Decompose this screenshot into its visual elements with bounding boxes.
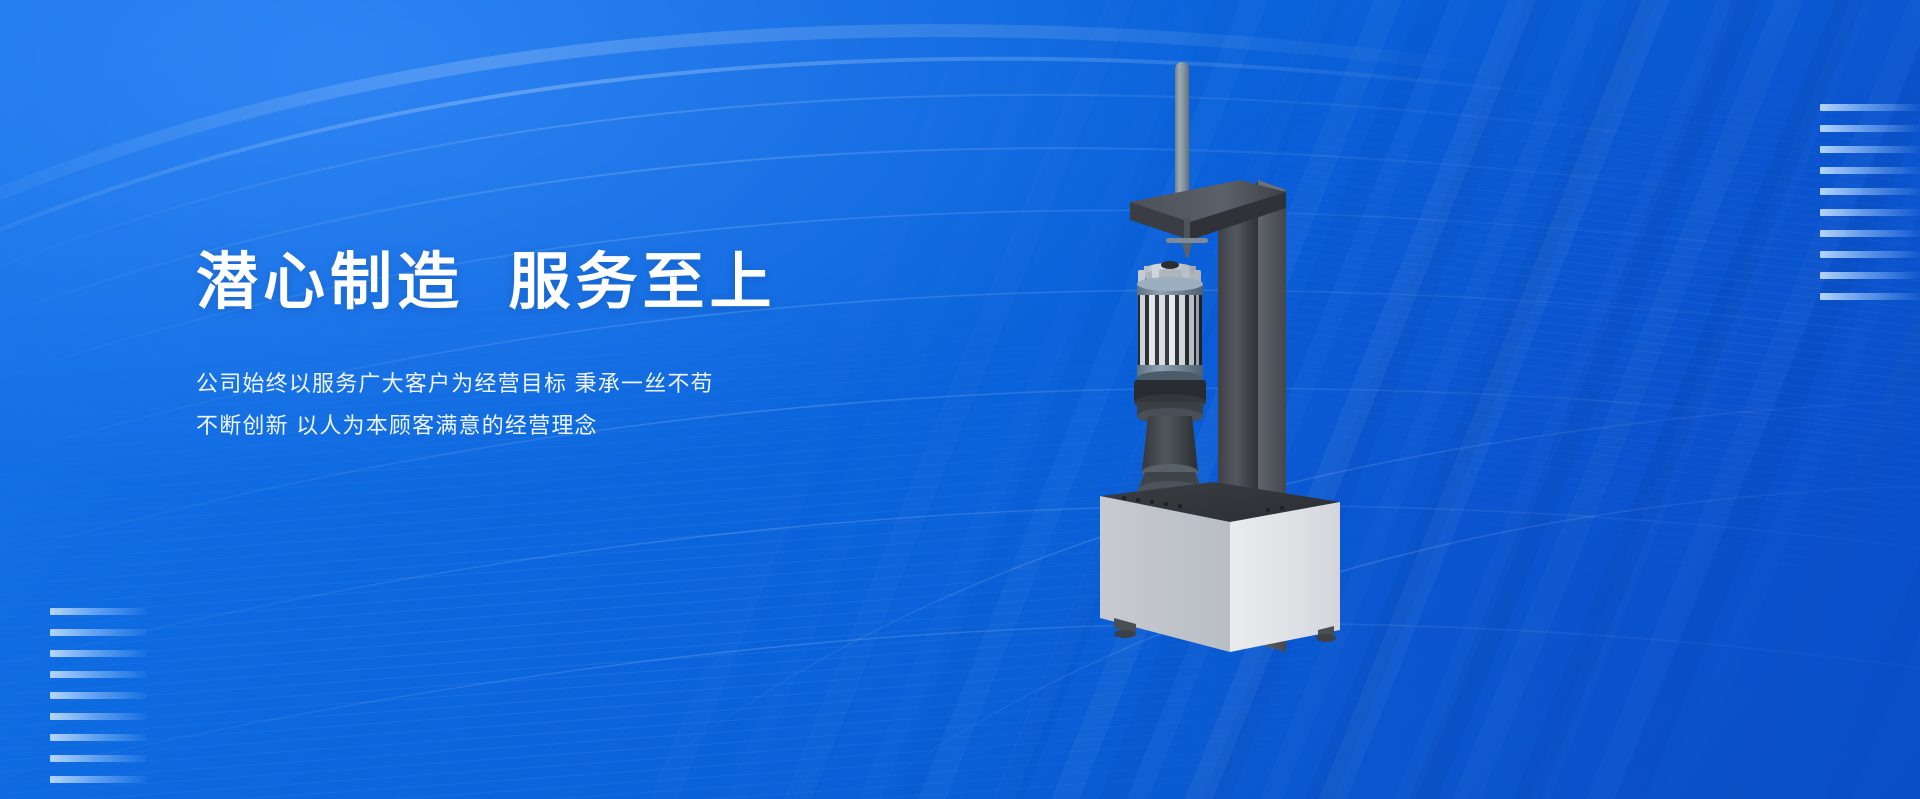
decorative-bar (50, 692, 147, 699)
decorative-bar (1820, 251, 1920, 258)
decorative-bar (50, 734, 147, 741)
decorative-bar (50, 608, 147, 615)
hero-banner: 潜心制造 服务至上 公司始终以服务广大客户为经营目标 秉承一丝不苟 不断创新 以… (0, 0, 1920, 799)
decorative-bar (1820, 125, 1920, 132)
decorative-bar (1820, 209, 1920, 216)
decorative-bar (50, 776, 147, 783)
decorative-bars-left (50, 608, 160, 783)
decorative-bar (1820, 293, 1920, 300)
hero-subtitle: 公司始终以服务广大客户为经营目标 秉承一丝不苟 不断创新 以人为本顾客满意的经营… (196, 363, 1016, 447)
decorative-bar (50, 671, 147, 678)
decorative-bar (1820, 104, 1920, 111)
decorative-bar (50, 629, 147, 636)
slogan-text-block: 潜心制造 服务至上 公司始终以服务广大客户为经营目标 秉承一丝不苟 不断创新 以… (196, 246, 1016, 448)
hero-headline: 潜心制造 服务至上 (196, 246, 1016, 319)
decorative-bars-right (1802, 104, 1920, 300)
decorative-bar (1820, 188, 1920, 195)
subtitle-line-1: 公司始终以服务广大客户为经营目标 秉承一丝不苟 (196, 363, 1016, 405)
decorative-bar (1820, 146, 1920, 153)
decorative-bar (50, 650, 147, 657)
decorative-bar (50, 755, 147, 762)
subtitle-line-2: 不断创新 以人为本顾客满意的经营理念 (196, 405, 1016, 447)
decorative-bar (1820, 272, 1920, 279)
decorative-bar (50, 713, 147, 720)
decorative-bar (1820, 230, 1920, 237)
decorative-bar (1820, 167, 1920, 174)
industrial-testing-machine-image (1090, 52, 1430, 672)
